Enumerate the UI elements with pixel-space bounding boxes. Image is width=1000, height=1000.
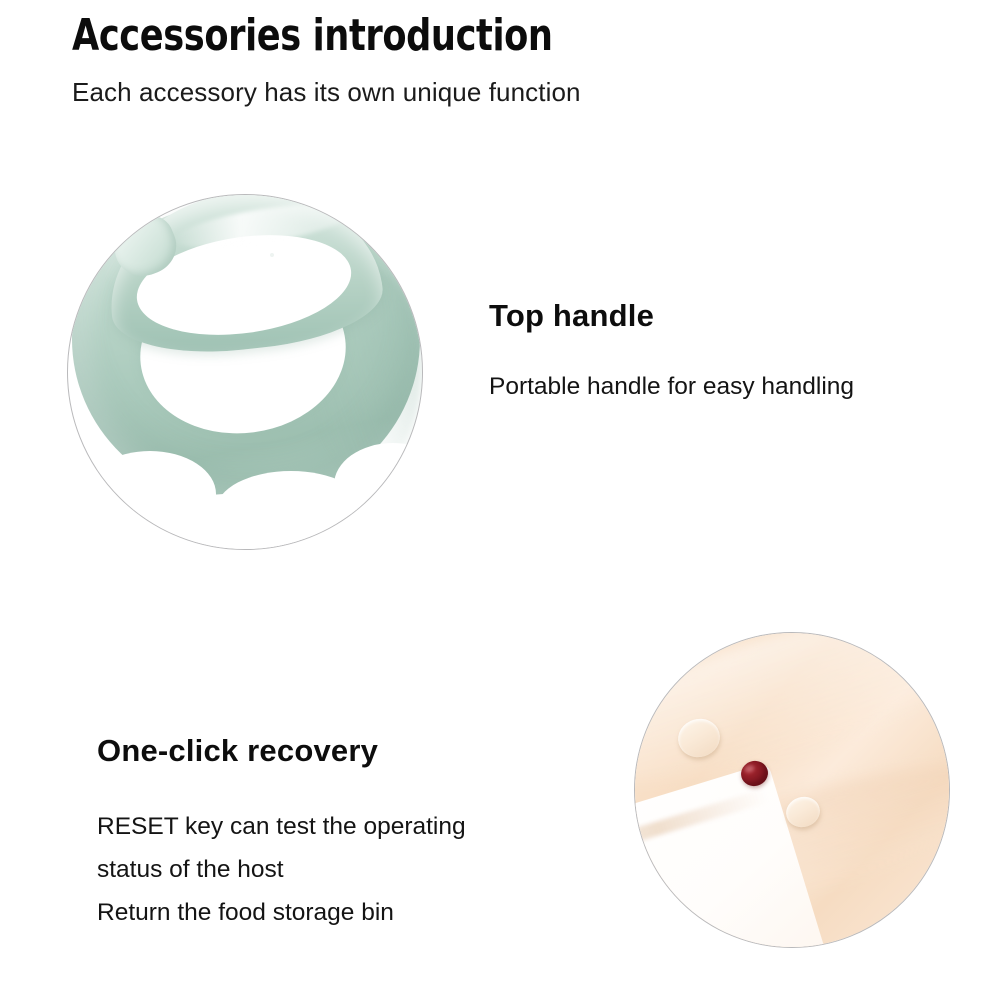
feature-title-top-handle: Top handle [489, 298, 654, 334]
page-title: Accessories introduction [72, 14, 760, 59]
one-click-recovery-photo-frame [634, 632, 950, 948]
feature-title-one-click-recovery: One-click recovery [97, 733, 378, 769]
reset-button-photo [635, 633, 949, 947]
feature-description-line: status of the host [97, 848, 466, 891]
infographic-page: Accessories introduction Each accessory … [0, 0, 1000, 1000]
feature-description-line: RESET key can test the operating [97, 805, 466, 848]
page-header: Accessories introduction Each accessory … [72, 14, 932, 108]
lid-illustration [67, 194, 423, 550]
top-handle-photo-frame [67, 194, 423, 550]
feature-description-line: Portable handle for easy handling [489, 365, 854, 408]
feature-description-line: Return the food storage bin [97, 891, 466, 934]
page-subtitle: Each accessory has its own unique functi… [72, 77, 932, 108]
host-illustration [634, 632, 950, 948]
green-lid-handle-photo [68, 195, 422, 549]
feature-description-top-handle: Portable handle for easy handling [489, 365, 854, 408]
feature-description-one-click-recovery: RESET key can test the operating status … [97, 805, 466, 934]
lid-specular-dot [270, 253, 274, 257]
